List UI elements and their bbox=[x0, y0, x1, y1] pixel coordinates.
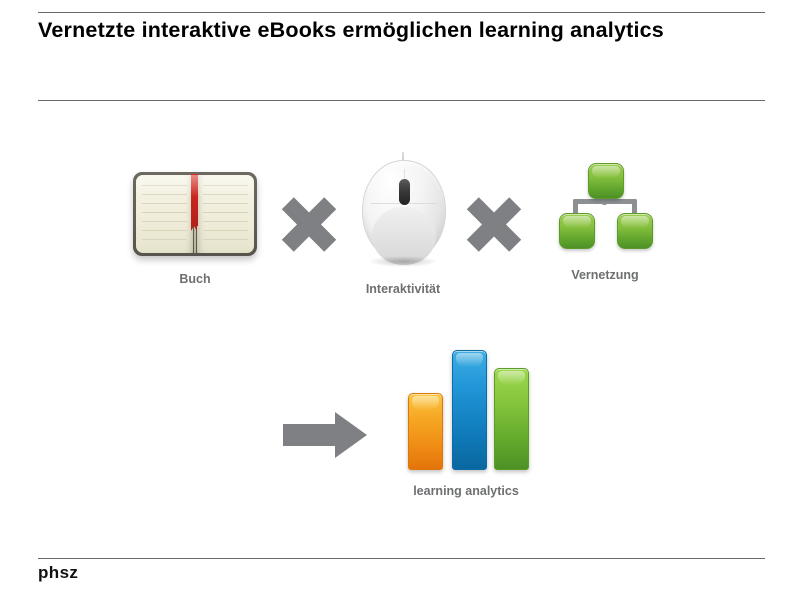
mouse-body bbox=[362, 160, 446, 262]
book-page-right bbox=[197, 175, 254, 253]
caption-learning-analytics: learning analytics bbox=[386, 484, 546, 498]
arrow-right-icon bbox=[283, 412, 367, 458]
slide-canvas: Vernetzte interaktive eBooks ermöglichen… bbox=[0, 0, 800, 600]
header-divider-top bbox=[38, 12, 765, 13]
mouse-drop-shadow bbox=[368, 256, 438, 267]
computer-mouse-icon bbox=[358, 152, 448, 270]
bar-chart-bar bbox=[408, 393, 443, 470]
caption-interaktivitaet: Interaktivität bbox=[333, 282, 473, 296]
bar-chart-bar bbox=[494, 368, 529, 470]
network-node-right bbox=[617, 213, 653, 249]
arrow-head bbox=[335, 412, 367, 458]
footer-divider bbox=[38, 558, 765, 559]
footer-logo: phsz bbox=[38, 563, 78, 583]
book-text-lines-left bbox=[142, 185, 187, 248]
mouse-scroll-wheel bbox=[399, 179, 410, 205]
network-nodes-icon bbox=[557, 163, 653, 249]
caption-vernetzung: Vernetzung bbox=[535, 268, 675, 282]
multiply-x-icon bbox=[281, 196, 337, 252]
book-page-left bbox=[136, 175, 193, 253]
page-title: Vernetzte interaktive eBooks ermöglichen… bbox=[38, 18, 768, 43]
book-ribbon-bookmark bbox=[191, 174, 198, 226]
network-node-left bbox=[559, 213, 595, 249]
arrow-shaft bbox=[283, 424, 337, 446]
caption-buch: Buch bbox=[133, 272, 257, 286]
bar-chart-bar bbox=[452, 350, 487, 470]
book-text-lines-right bbox=[203, 185, 248, 248]
bar-chart-icon bbox=[404, 350, 528, 470]
network-node-top bbox=[588, 163, 624, 199]
open-book-icon bbox=[133, 172, 257, 256]
header-divider-bottom bbox=[38, 100, 765, 101]
multiply-x-icon bbox=[466, 196, 522, 252]
